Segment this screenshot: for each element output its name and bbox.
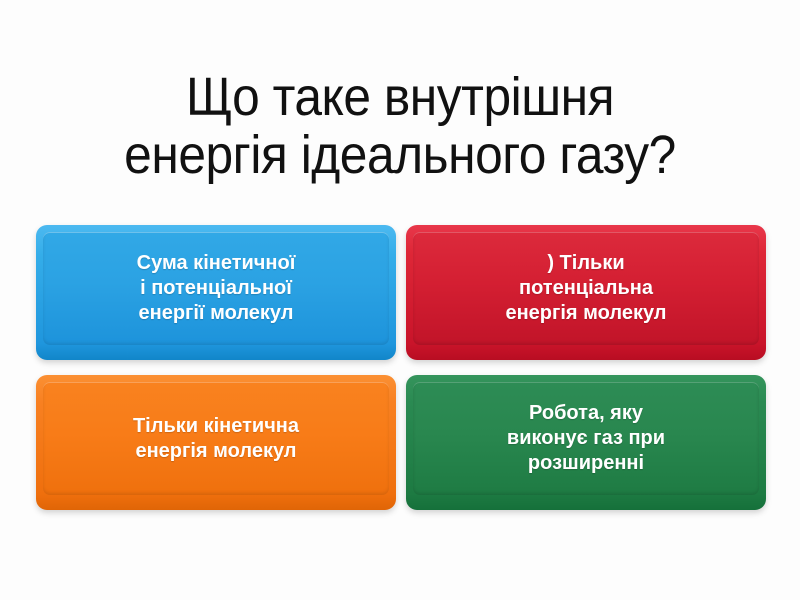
answer-option-2-face: ) Тільки потенціальна енергія молекул <box>413 232 759 345</box>
answer-options-grid: Сума кінетичної і потенціальної енергії … <box>36 225 766 510</box>
answer-option-1[interactable]: Сума кінетичної і потенціальної енергії … <box>36 225 396 360</box>
answer-option-4-face: Робота, яку виконує газ при розширенні <box>413 382 759 495</box>
answer-option-3-face: Тільки кінетична енергія молекул <box>43 382 389 495</box>
answer-option-3-label: Тільки кінетична енергія молекул <box>133 414 299 464</box>
answer-option-2-label: ) Тільки потенціальна енергія молекул <box>505 251 666 326</box>
answer-option-1-label: Сума кінетичної і потенціальної енергії … <box>137 251 296 326</box>
question-title: Що таке внутрішня енергія ідеального газ… <box>32 68 768 184</box>
answer-option-3[interactable]: Тільки кінетична енергія молекул <box>36 375 396 510</box>
quiz-screen: Що таке внутрішня енергія ідеального газ… <box>0 0 800 600</box>
answer-option-2[interactable]: ) Тільки потенціальна енергія молекул <box>406 225 766 360</box>
answer-option-1-face: Сума кінетичної і потенціальної енергії … <box>43 232 389 345</box>
answer-option-4[interactable]: Робота, яку виконує газ при розширенні <box>406 375 766 510</box>
answer-option-4-label: Робота, яку виконує газ при розширенні <box>507 401 665 476</box>
